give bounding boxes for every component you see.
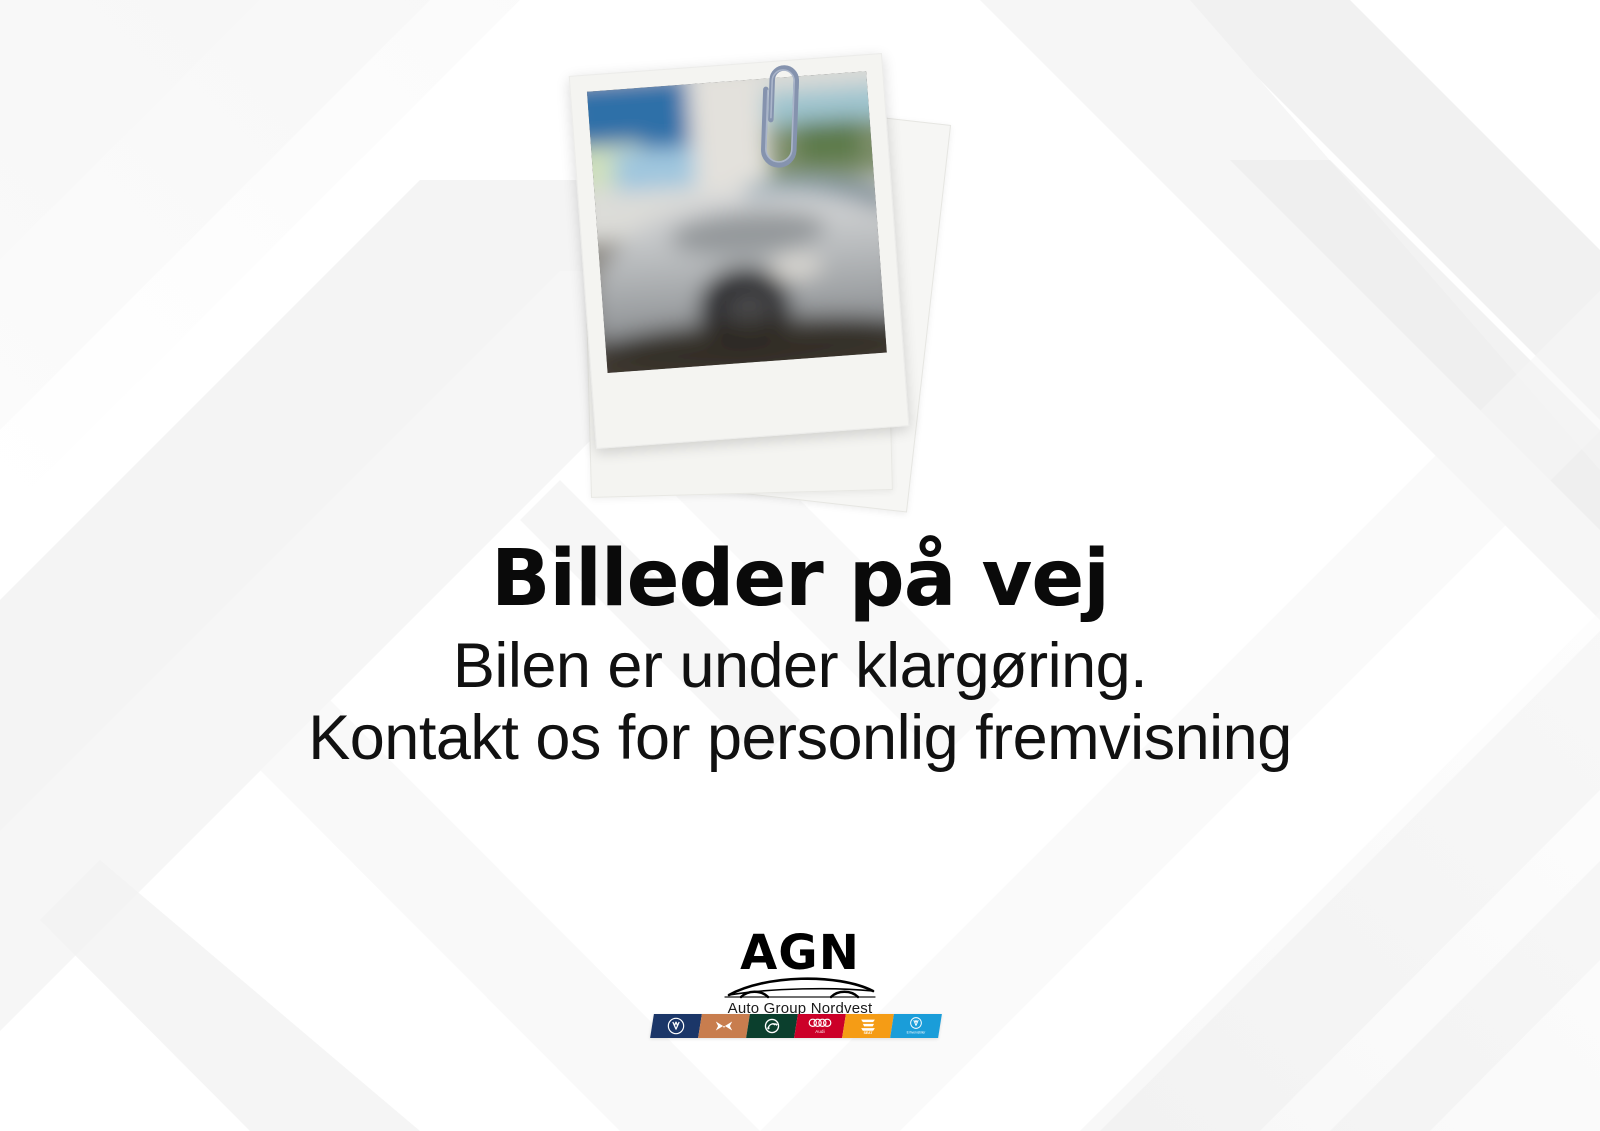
polaroid-frame: [569, 53, 910, 449]
headline: Billeder på vej: [0, 540, 1600, 618]
message-block: Billeder på vej Bilen er under klargørin…: [0, 540, 1600, 772]
brand-tile-volkswagen: Volkswagen: [650, 1014, 702, 1038]
svg-text:SEAT: SEAT: [864, 1031, 874, 1035]
car-photo-blurred: [587, 71, 887, 373]
brand-tile-seat: SEAT SEAT: [842, 1014, 894, 1038]
logo-wordmark: AGN: [740, 925, 860, 981]
brand-tile-audi: Audi Audi: [794, 1014, 846, 1038]
brand-strip: Volkswagen Cupra: [650, 1014, 942, 1038]
agn-logo: AGN Auto Group Nordvest: [0, 925, 1600, 1022]
seat-logo-icon: SEAT: [857, 1017, 879, 1035]
subtitle-line-2: Kontakt os for personlig fremvisning: [0, 704, 1600, 772]
subtitle-line-1: Bilen er under klargøring.: [0, 632, 1600, 700]
placeholder-banner: Billeder på vej Bilen er under klargørin…: [0, 0, 1600, 1131]
skoda-logo-icon: [763, 1017, 781, 1035]
audi-logo-icon: Audi: [808, 1017, 832, 1035]
volkswagen-erhvervsbiler-logo-icon: Erhvervsbiler: [904, 1017, 928, 1035]
car-silhouette-icon: [725, 979, 875, 997]
paperclip-icon: [754, 53, 812, 177]
brand-tile-skoda: Skoda: [746, 1014, 798, 1038]
brand-tile-cupra: Cupra: [698, 1014, 750, 1038]
photo-placeholder-cluster: [560, 40, 1020, 530]
svg-text:Audi: Audi: [815, 1029, 825, 1034]
volkswagen-logo-icon: [667, 1017, 685, 1035]
svg-text:Erhvervsbiler: Erhvervsbiler: [907, 1030, 927, 1034]
cupra-logo-icon: [714, 1018, 734, 1034]
brand-tile-volkswagen-erhvervsbiler: Erhvervsbiler Volkswagen Erhvervsbiler: [890, 1014, 942, 1038]
